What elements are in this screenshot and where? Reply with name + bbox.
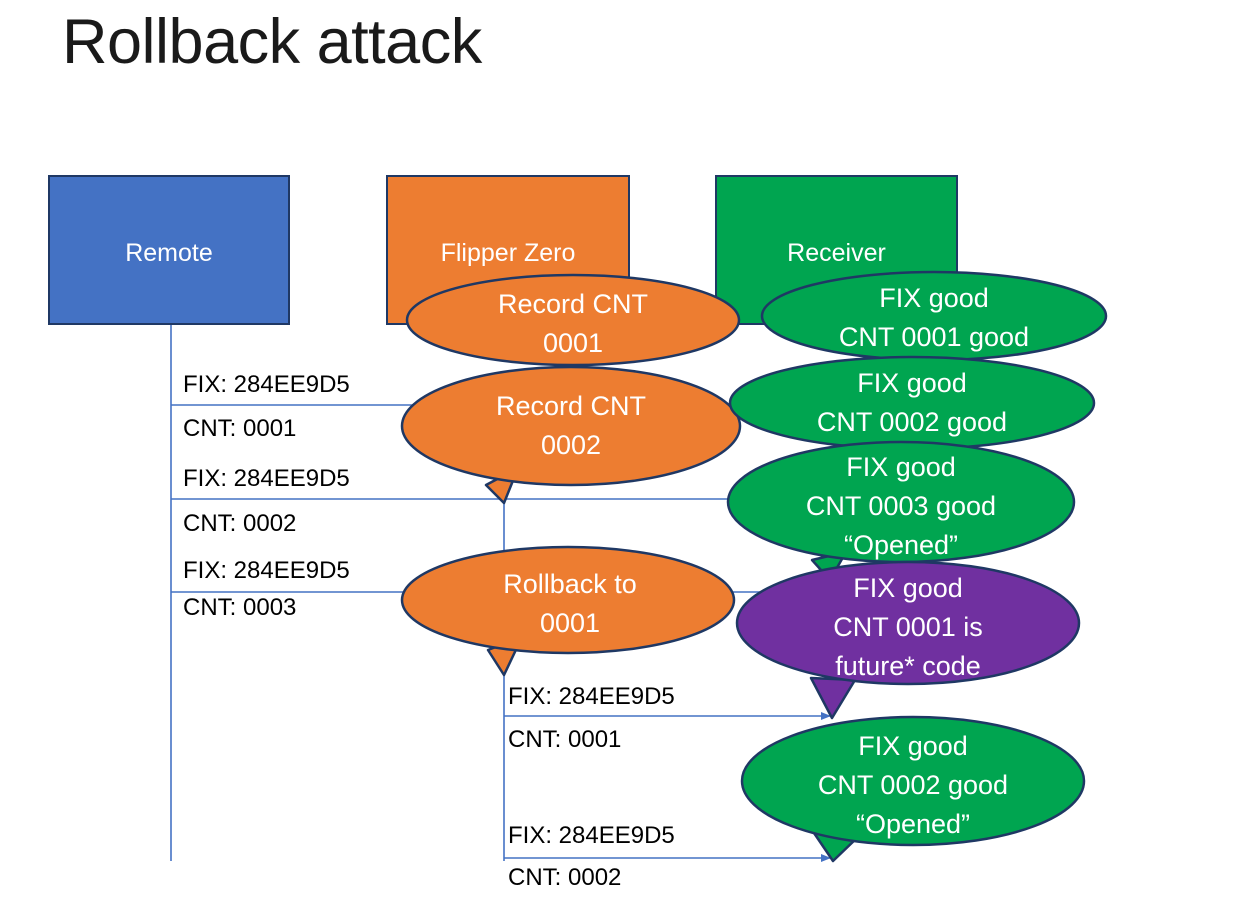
- message-label-remote-1-fix: FIX: 284EE9D5: [183, 370, 350, 400]
- actor-label-flipper: Flipper Zero: [388, 239, 628, 268]
- message-label-flipper-2-cnt: CNT: 0002: [508, 863, 621, 893]
- message-label-remote-3-fix: FIX: 284EE9D5: [183, 556, 350, 586]
- actor-box-remote[interactable]: Remote: [48, 175, 290, 325]
- slide-canvas: Rollback attack Remote Flipper Zero Rece…: [0, 0, 1233, 898]
- message-label-flipper-2-fix: FIX: 284EE9D5: [508, 821, 675, 851]
- message-label-remote-2-fix: FIX: 284EE9D5: [183, 464, 350, 494]
- bubble-record-cnt-0002[interactable]: Record CNT 0002: [400, 365, 742, 503]
- message-label-flipper-1-cnt: CNT: 0001: [508, 725, 621, 755]
- bubble-fix-good-cnt-0002-good[interactable]: FIX good CNT 0002 good: [728, 355, 1096, 451]
- message-label-remote-2-cnt: CNT: 0002: [183, 509, 296, 539]
- message-label-remote-3-cnt: CNT: 0003: [183, 593, 296, 623]
- message-label-flipper-1-fix: FIX: 284EE9D5: [508, 682, 675, 712]
- actor-label-remote: Remote: [50, 239, 288, 268]
- message-label-remote-1-cnt: CNT: 0001: [183, 414, 296, 444]
- actor-label-receiver: Receiver: [717, 239, 956, 268]
- bubble-record-cnt-0001[interactable]: Record CNT 0001: [405, 273, 741, 367]
- bubble-fix-good-cnt-0003-good-opened[interactable]: FIX good CNT 0003 good “Opened”: [726, 440, 1076, 580]
- bubble-fix-good-cnt-0002-good-opened-2[interactable]: FIX good CNT 0002 good “Opened”: [740, 715, 1086, 863]
- page-title: Rollback attack: [62, 8, 482, 77]
- bubble-fix-good-cnt-0001-future-code[interactable]: FIX good CNT 0001 is future* code: [735, 560, 1081, 720]
- bubble-fix-good-cnt-0001-good[interactable]: FIX good CNT 0001 good: [760, 270, 1108, 362]
- bubble-rollback-to-0001[interactable]: Rollback to 0001: [400, 545, 740, 675]
